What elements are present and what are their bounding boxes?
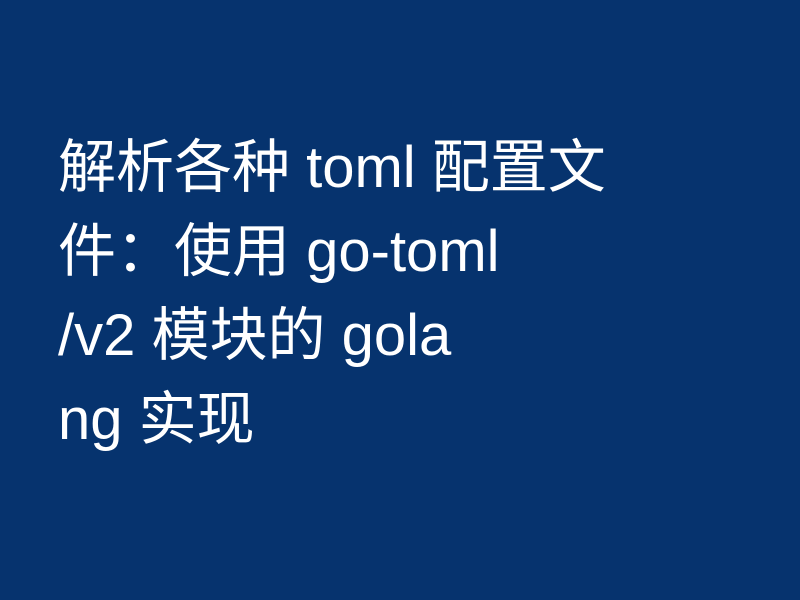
title-line-3: /v2 模块的 gola [58, 294, 760, 378]
title-line-4: ng 实现 [58, 378, 760, 462]
title-line-1: 解析各种 toml 配置文 [58, 126, 760, 210]
title-line-2: 件：使用 go-toml [58, 210, 760, 294]
page-title: 解析各种 toml 配置文 件：使用 go-toml /v2 模块的 gola … [58, 126, 760, 462]
title-card: 解析各种 toml 配置文 件：使用 go-toml /v2 模块的 gola … [0, 0, 800, 600]
